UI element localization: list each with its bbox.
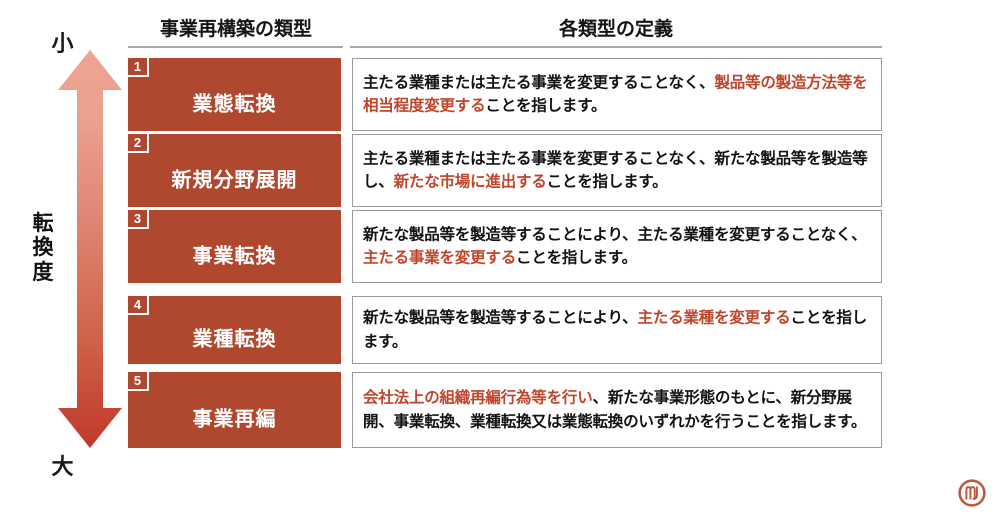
definition-text: 主たる業種または主たる事業を変更することなく、製品等の製造方法等を相当程度変更す… — [363, 71, 873, 118]
definition-text: 新たな製品等を製造等することにより、主たる業種を変更することを指します。 — [363, 306, 873, 353]
type-label: 新規分野展開 — [128, 163, 341, 192]
definition-highlight: 新たな市場に進出する — [394, 174, 547, 191]
table-row: 1業態転換主たる業種または主たる事業を変更することなく、製品等の製造方法等を相当… — [128, 58, 882, 131]
type-box[interactable]: 1業態転換 — [128, 58, 341, 131]
type-label: 事業再編 — [128, 403, 341, 432]
restructuring-types-table: 1業態転換主たる業種または主たる事業を変更することなく、製品等の製造方法等を相当… — [0, 0, 1000, 514]
definition-box: 新たな製品等を製造等することにより、主たる業種を変更することなく、主たる事業を変… — [352, 210, 882, 283]
type-box[interactable]: 3事業転換 — [128, 210, 341, 283]
type-number-badge: 2 — [126, 132, 149, 153]
definition-box: 新たな製品等を製造等することにより、主たる業種を変更することを指します。 — [352, 296, 882, 364]
table-row: 5事業再編会社法上の組織再編行為等を行い、新たな事業形態のもとに、新分野展開、事… — [128, 372, 882, 448]
type-label: 事業転換 — [128, 239, 341, 268]
type-number-badge: 1 — [126, 56, 149, 77]
type-number-badge: 5 — [126, 370, 149, 391]
definition-text: 新たな製品等を製造等することにより、主たる業種を変更することなく、主たる事業を変… — [363, 223, 873, 270]
type-label: 業種転換 — [128, 323, 341, 352]
type-box[interactable]: 2新規分野展開 — [128, 134, 341, 207]
type-label: 業態転換 — [128, 87, 341, 116]
definition-highlight: 主たる業種を変更する — [637, 309, 790, 326]
definition-box: 会社法上の組織再編行為等を行い、新たな事業形態のもとに、新分野展開、事業転換、業… — [352, 372, 882, 448]
definition-text: 主たる業種または主たる事業を変更することなく、新たな製品等を製造等し、新たな市場… — [363, 147, 873, 194]
definition-highlight: 主たる事業を変更する — [363, 250, 516, 267]
circular-m-logo-icon — [957, 478, 987, 508]
table-row: 2新規分野展開主たる業種または主たる事業を変更することなく、新たな製品等を製造等… — [128, 134, 882, 207]
type-number-badge: 4 — [126, 294, 149, 315]
definition-text: 会社法上の組織再編行為等を行い、新たな事業形態のもとに、新分野展開、事業転換、業… — [363, 386, 873, 433]
type-box[interactable]: 4業種転換 — [128, 296, 341, 364]
type-box[interactable]: 5事業再編 — [128, 372, 341, 448]
definition-box: 主たる業種または主たる事業を変更することなく、製品等の製造方法等を相当程度変更す… — [352, 58, 882, 131]
table-row: 4業種転換新たな製品等を製造等することにより、主たる業種を変更することを指します… — [128, 296, 882, 364]
type-number-badge: 3 — [126, 208, 149, 229]
definition-box: 主たる業種または主たる事業を変更することなく、新たな製品等を製造等し、新たな市場… — [352, 134, 882, 207]
table-row: 3事業転換新たな製品等を製造等することにより、主たる業種を変更することなく、主た… — [128, 210, 882, 283]
definition-highlight: 会社法上の組織再編行為等を行い — [363, 389, 593, 406]
